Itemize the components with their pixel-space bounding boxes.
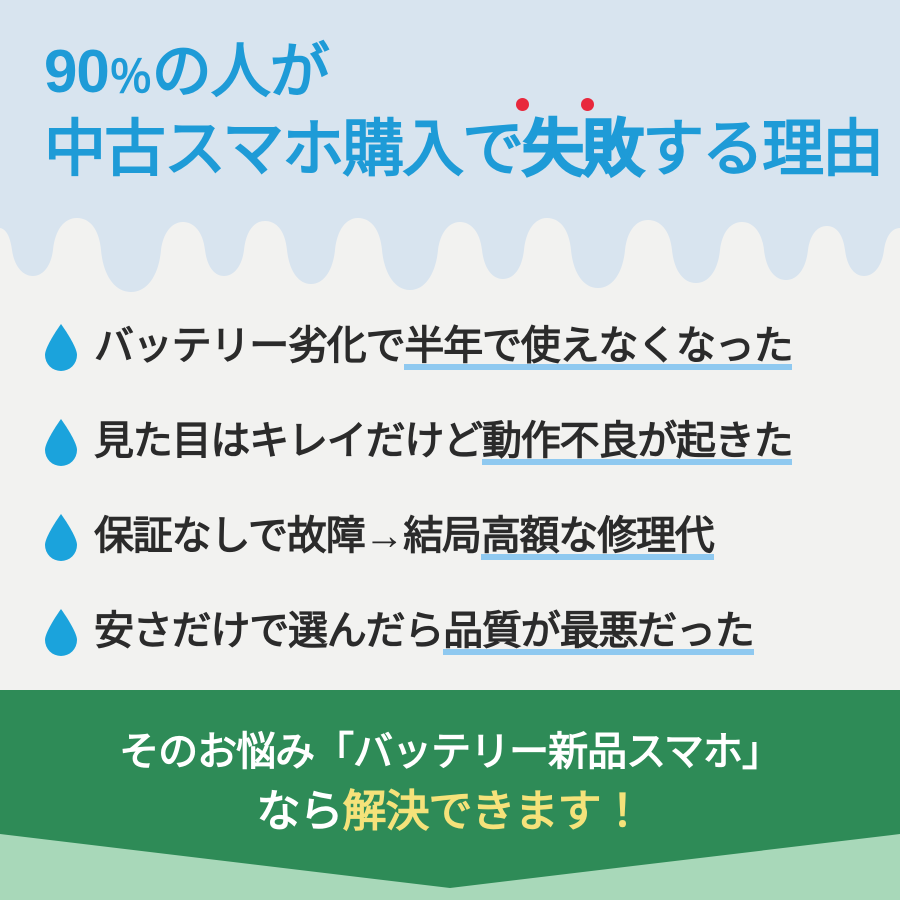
- list-item: バッテリー劣化で半年で使えなくなった: [0, 300, 900, 395]
- list-item-plain-text: バッテリー劣化で: [94, 324, 404, 368]
- list-item-plain-text: 安さだけで選んだら: [94, 609, 443, 653]
- list-item-plain-text: 見た目はキレイだけど: [94, 419, 482, 463]
- footer-line-1: そのお悩み「バッテリー新品スマホ」: [0, 728, 900, 776]
- emphasis-dots-group: [516, 98, 594, 111]
- footer-banner: そのお悩み「バッテリー新品スマホ」 なら解決できます！: [0, 690, 900, 900]
- water-drop-icon: [44, 419, 78, 467]
- list-item-text: 見た目はキレイだけど動作不良が起きた: [94, 421, 792, 465]
- footer-line-2: なら解決できます！: [0, 786, 900, 839]
- headline-percent-sign: ％: [109, 53, 152, 102]
- footer-text-block: そのお悩み「バッテリー新品スマホ」 なら解決できます！: [0, 690, 900, 839]
- list-item: 見た目はキレイだけど動作不良が起きた: [0, 395, 900, 490]
- water-drop-icon: [44, 324, 78, 372]
- header-section: 90％の人が 中古スマホ購入で失敗する理由: [0, 0, 900, 300]
- headline-line-1-rest: の人が: [152, 38, 329, 105]
- headline-block: 90％の人が 中古スマホ購入で失敗する理由: [0, 0, 900, 184]
- list-item-text: 安さだけで選んだら品質が最悪だった: [94, 611, 754, 655]
- list-item-text: バッテリー劣化で半年で使えなくなった: [94, 326, 792, 370]
- emphasis-dot-icon: [581, 98, 594, 111]
- list-item-plain-text: 保証なしで故障→結局: [94, 514, 481, 558]
- footer-line-2-highlight: 解決できます！: [343, 787, 644, 836]
- headline-line-2-suffix: する理由: [642, 115, 882, 184]
- emphasis-dot-icon: [516, 98, 529, 111]
- headline-line-1: 90％の人が: [44, 40, 900, 103]
- water-drop-icon: [44, 514, 78, 562]
- pain-point-list: バッテリー劣化で半年で使えなくなった 見た目はキレイだけど動作不良が起きた 保証…: [0, 300, 900, 680]
- list-item-underlined-text: 高額な修理代: [481, 514, 714, 560]
- headline-line-2: 中古スマホ購入で失敗する理由: [44, 117, 900, 184]
- water-drop-icon: [44, 609, 78, 657]
- list-item: 保証なしで故障→結局高額な修理代: [0, 490, 900, 585]
- list-item: 安さだけで選んだら品質が最悪だった: [0, 585, 900, 680]
- list-item-underlined-text: 品質が最悪だった: [443, 609, 753, 655]
- list-item-text: 保証なしで故障→結局高額な修理代: [94, 516, 714, 560]
- footer-line-2-prefix: なら: [257, 787, 343, 836]
- list-item-underlined-text: 半年で使えなくなった: [404, 324, 792, 370]
- headline-percentage-number: 90: [44, 38, 109, 105]
- list-item-underlined-text: 動作不良が起きた: [482, 419, 792, 465]
- headline-emphasis-word: 失敗: [522, 115, 642, 184]
- headline-line-2-prefix: 中古スマホ購入で: [44, 115, 522, 184]
- promo-poster: 90％の人が 中古スマホ購入で失敗する理由 バッテリー劣化で半年で使えなくなった: [0, 0, 900, 900]
